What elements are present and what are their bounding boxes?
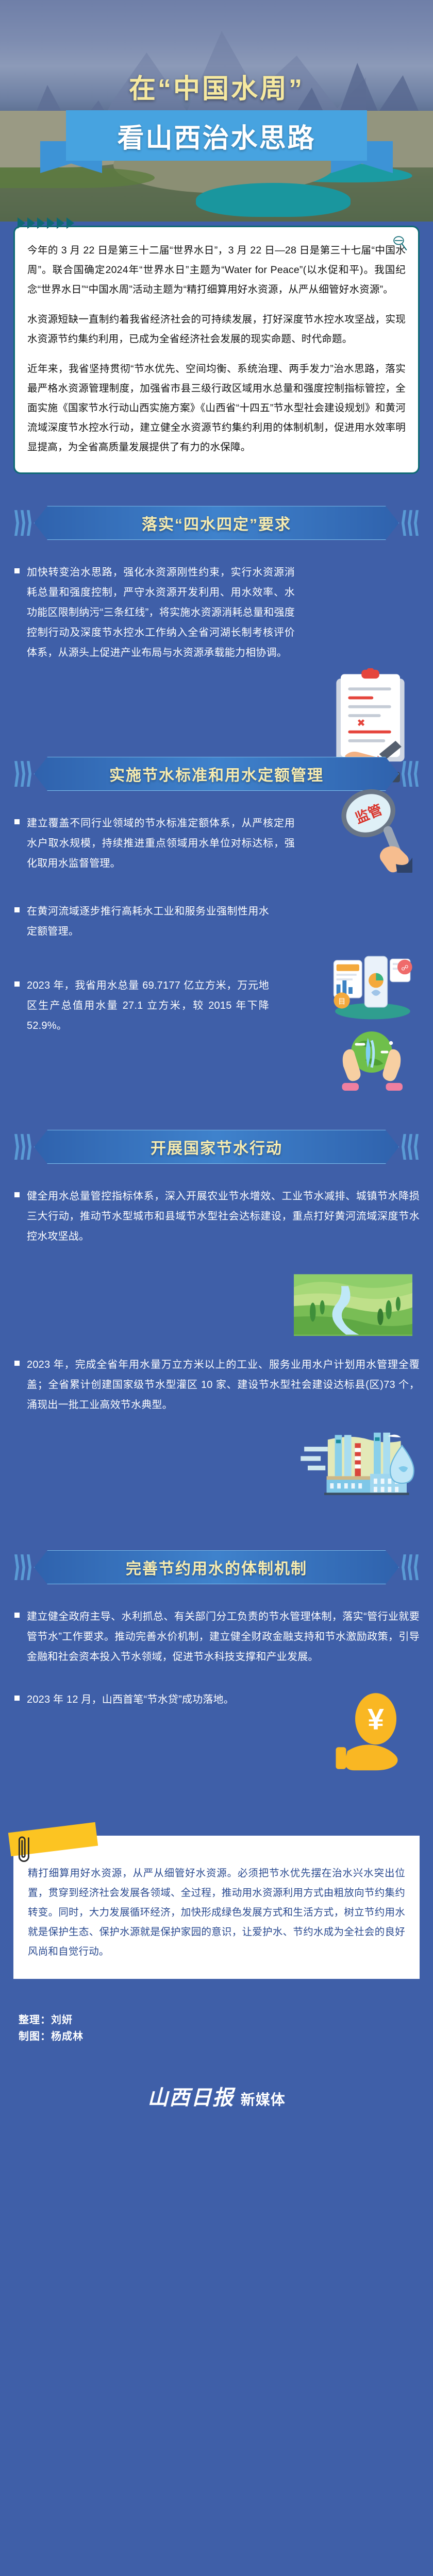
intro-paragraph: 水资源短缺一直制约着我省经济社会的可持续发展，打好深度节水控水攻坚战，实现水资源… — [27, 310, 406, 349]
bullet-item: 在黄河流域逐步推行高耗水工业和服务业强制性用水定额管理。 — [13, 902, 420, 942]
bullet-text: 建立覆盖不同行业领域的节水标准定额体系，从严核定用水户取水规模，持续推进重点领域… — [27, 814, 295, 874]
hero-ribbon: 看山西治水思路 — [0, 110, 433, 172]
chevron-decoration-row — [13, 217, 420, 229]
chevron-icon — [37, 217, 45, 229]
chevron-wing-left-icon — [14, 1134, 32, 1160]
publisher-logo: 山西日报 新媒体 — [19, 2081, 414, 2111]
bullet-text: 2023 年，完成全省年用水量万立方米以上的工业、服务业用水户计划用水管理全覆盖… — [27, 1355, 420, 1415]
logo-main-text: 山西日报 — [147, 2081, 234, 2111]
section-title: 落实“四水四定”要求 — [142, 512, 291, 534]
svg-text:¥: ¥ — [368, 1703, 384, 1736]
bullet-text: 2023 年，我省用水总量 69.7177 亿立方米，万元地区生产总值用水量 2… — [27, 976, 269, 1036]
globe-in-hands-illustration — [333, 1024, 410, 1101]
chevron-wing-right-icon — [401, 1134, 419, 1160]
conclusion-section: 精打细算用好水资源，从严从细管好水资源。必须把节水优先摆在治水兴水突出位置，贯穿… — [0, 1805, 433, 1979]
coin-in-hand-illustration: ¥ — [332, 1690, 409, 1775]
bullet-item: 建立健全政府主导、水利抓总、有关部门分工负责的节水管理体制，落实“管行业就要管节… — [13, 1607, 420, 1667]
logo-sub-text: 新媒体 — [241, 2089, 286, 2109]
section-header: 落实“四水四定”要求 — [13, 501, 420, 545]
chevron-icon — [57, 217, 64, 229]
magnifier-icon — [391, 234, 409, 252]
section-header: 开展国家节水行动 — [13, 1125, 420, 1169]
section-title: 实施节水标准和用水定额管理 — [109, 762, 324, 785]
bullet-text: 2023 年 12 月，山西首笔“节水贷”成功落地。 — [27, 1690, 269, 1710]
intro-paragraph: 今年的 3 月 22 日是第三十二届“世界水日”，3 月 22 日—28 日是第… — [27, 241, 406, 299]
chevron-icon — [47, 217, 55, 229]
section-water-quota: 实施节水标准和用水定额管理 建立覆盖不同行业领域的节水标准定额体系，从严核定用水… — [0, 752, 433, 1098]
paperclip-icon — [16, 1834, 35, 1868]
intro-card: 今年的 3 月 22 日是第三十二届“世界水日”，3 月 22 日—28 日是第… — [13, 226, 420, 474]
conclusion-card: 精打细算用好水资源，从严从细管好水资源。必须把节水优先摆在治水兴水突出位置，贯穿… — [13, 1836, 420, 1979]
section-title: 开展国家节水行动 — [151, 1136, 282, 1158]
svg-text:☍: ☍ — [401, 964, 408, 973]
ribbon-body: 看山西治水思路 — [66, 110, 367, 161]
magnifier-supervision-illustration: 监管 — [330, 783, 412, 873]
chevron-wing-left-icon — [14, 761, 32, 787]
credit-editor: 整理：刘妍 — [19, 2012, 414, 2028]
chevron-wing-right-icon — [401, 1554, 419, 1580]
hero-banner: 在“中国水周” 看山西治水思路 — [0, 0, 433, 222]
section-four-waters: 落实“四水四定”要求 加快转变治水思路，强化水资源刚性约束，实行水资源消耗总量和… — [0, 501, 433, 725]
intro-paragraph: 近年来，我省坚持贯彻“节水优先、空间均衡、系统治理、两手发力”治水思路，落实最严… — [27, 359, 406, 457]
bullet-text: 建立健全政府主导、水利抓总、有关部门分工负责的节水管理体制，落实“管行业就要管节… — [27, 1607, 420, 1667]
section-institution-mechanism: 完善节约用水的体制机制 建立健全政府主导、水利抓总、有关部门分工负责的节水管理体… — [0, 1545, 433, 1787]
bullet-text: 健全用水总量管控指标体系，深入开展农业节水增效、工业节水减排、城镇节水降损三大行… — [27, 1187, 420, 1247]
bullet-item: 健全用水总量管控指标体系，深入开展农业节水增效、工业节水减排、城镇节水降损三大行… — [13, 1187, 420, 1283]
infographic-page: 在“中国水周” 看山西治水思路 今年的 3 月 22 日是第三十二届“世界水日 — [0, 0, 433, 2147]
conclusion-text: 精打细算用好水资源，从严从细管好水资源。必须把节水优先摆在治水兴水突出位置，贯穿… — [28, 1863, 405, 1961]
section-header: 完善节约用水的体制机制 — [13, 1545, 420, 1589]
credit-designer: 制图：杨成林 — [19, 2028, 414, 2045]
section-title: 完善节约用水的体制机制 — [126, 1556, 307, 1579]
farmland-river-illustration — [294, 1274, 412, 1336]
bullet-text: 在黄河流域逐步推行高耗水工业和服务业强制性用水定额管理。 — [27, 902, 269, 942]
chevron-icon — [66, 217, 74, 229]
chevron-wing-left-icon — [14, 1554, 32, 1580]
river-segment-lower — [196, 183, 351, 217]
chevron-wing-right-icon — [401, 510, 419, 536]
chevron-icon — [18, 217, 25, 229]
chevron-icon — [27, 217, 35, 229]
hero-title-banner: 看山西治水思路 — [117, 116, 315, 155]
footer: 整理：刘妍 制图：杨成林 山西日报 新媒体 — [0, 1979, 433, 2147]
chevron-wing-left-icon — [14, 510, 32, 536]
section-national-water-saving: 开展国家节水行动 健全用水总量管控指标体系，深入开展农业节水增效、工业节水减排、… — [0, 1125, 433, 1518]
bullet-text: 加快转变治水思路，强化水资源刚性约束，实行水资源消耗总量和强度控制，严守水资源开… — [27, 563, 295, 663]
hero-title-top: 在“中国水周” — [0, 67, 433, 106]
factory-waterdrop-illustration — [298, 1426, 417, 1508]
intro-section: 今年的 3 月 22 日是第三十二届“世界水日”，3 月 22 日—28 日是第… — [0, 217, 433, 474]
